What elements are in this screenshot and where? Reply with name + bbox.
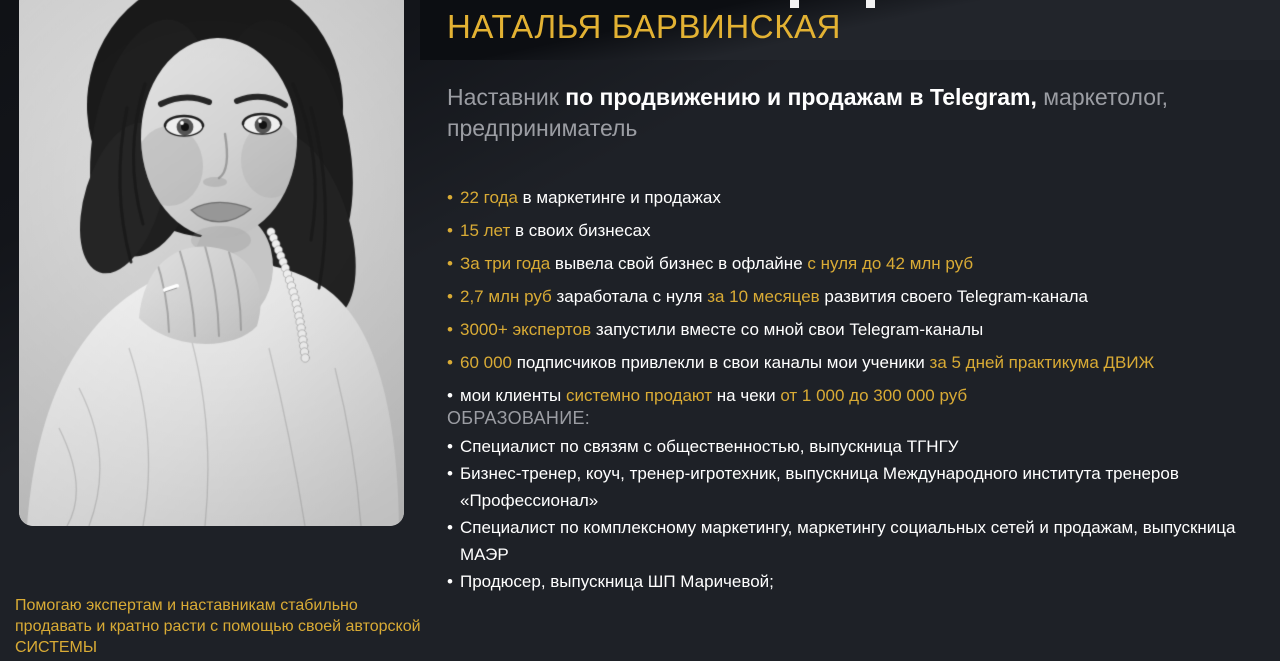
achievement-item: •22 года в маркетинге и продажах <box>447 185 1267 210</box>
bullet-dot-icon: • <box>447 514 453 541</box>
subtitle-segment-0: Наставник <box>447 84 565 110</box>
portrait-photo <box>19 0 404 526</box>
bullet-dot-icon: • <box>447 350 453 375</box>
achievement-segment-0: 15 лет <box>460 221 510 240</box>
bullet-dot-icon: • <box>447 185 453 210</box>
bullet-dot-icon: • <box>447 317 453 342</box>
achievement-segment-3: от 1 000 до 300 000 руб <box>780 386 967 405</box>
bullet-dot-icon: • <box>447 460 453 487</box>
achievement-segment-2: за 5 дней практикума ДВИЖ <box>930 353 1155 372</box>
achievement-item: •мои клиенты системно продают на чеки от… <box>447 383 1267 408</box>
achievement-segment-2: с нуля до 42 млн руб <box>807 254 973 273</box>
achievement-segment-0: 60 000 <box>460 353 512 372</box>
education-item-text: Специалист по комплексному маркетингу, м… <box>460 518 1235 564</box>
subtitle-segment-2: , <box>1030 84 1043 110</box>
bullet-dot-icon: • <box>447 251 453 276</box>
achievement-segment-2: за 10 месяцев <box>707 287 819 306</box>
achievement-segment-1: в маркетинге и продажах <box>518 188 721 207</box>
achievement-segment-1: заработала с нуля <box>552 287 707 306</box>
page-title: НАТАЛЬЯ БАРВИНСКАЯ <box>447 7 841 47</box>
achievement-item: •2,7 млн руб заработала с нуля за 10 мес… <box>447 284 1267 309</box>
achievement-segment-1: вывела свой бизнес в офлайне <box>550 254 807 273</box>
bullet-dot-icon: • <box>447 218 453 243</box>
bullet-dot-icon: • <box>447 568 453 595</box>
bullet-dot-icon: • <box>447 383 453 408</box>
achievement-segment-1: запустили вместе со мной свои Telegram-к… <box>591 320 983 339</box>
achievement-segment-1: в своих бизнесах <box>510 221 650 240</box>
achievement-segment-1: подписчиков привлекли в свои каналы мои … <box>512 353 930 372</box>
education-item: •Продюсер, выпускница ШП Маричевой; <box>447 568 1247 595</box>
education-item: •Специалист по связям с общественностью,… <box>447 433 1247 460</box>
achievement-segment-1: системно продают <box>566 386 712 405</box>
achievements-list: •22 года в маркетинге и продажах•15 лет … <box>447 185 1267 416</box>
achievement-segment-3: развития своего Telegram-канала <box>820 287 1088 306</box>
education-heading: ОБРАЗОВАНИЕ: <box>447 406 590 430</box>
education-item-text: Специалист по связям с общественностью, … <box>460 437 959 456</box>
achievement-item: •60 000 подписчиков привлекли в свои кан… <box>447 350 1267 375</box>
subtitle-segment-1: по продвижению и продажам в Telegram <box>565 84 1030 110</box>
achievement-segment-0: 3000+ экспертов <box>460 320 591 339</box>
education-item: •Бизнес-тренер, коуч, тренер-игротехник,… <box>447 460 1247 514</box>
education-item-text: Продюсер, выпускница ШП Маричевой; <box>460 572 774 591</box>
education-item-text: Бизнес-тренер, коуч, тренер-игротехник, … <box>460 464 1179 510</box>
presentation-slide: НАТАЛЬЯ БАРВИНСКАЯ Наставник по продвиже… <box>0 0 1280 661</box>
achievement-segment-0: За три года <box>460 254 550 273</box>
portrait-canvas <box>19 0 404 526</box>
subtitle: Наставник по продвижению и продажам в Te… <box>447 82 1259 144</box>
bullet-dot-icon: • <box>447 284 453 309</box>
achievement-segment-0: 22 года <box>460 188 518 207</box>
achievement-segment-0: 2,7 млн руб <box>460 287 552 306</box>
achievement-item: •15 лет в своих бизнесах <box>447 218 1267 243</box>
bullet-dot-icon: • <box>447 433 453 460</box>
tagline: Помогаю экспертам и наставникам стабильн… <box>15 595 430 658</box>
education-item: •Специалист по комплексному маркетингу, … <box>447 514 1247 568</box>
achievement-segment-0: мои клиенты <box>460 386 566 405</box>
education-list: •Специалист по связям с общественностью,… <box>447 433 1247 595</box>
achievement-item: •3000+ экспертов запустили вместе со мно… <box>447 317 1267 342</box>
achievement-segment-2: на чеки <box>712 386 780 405</box>
achievement-item: •За три года вывела свой бизнес в офлайн… <box>447 251 1267 276</box>
content-column: НАТАЛЬЯ БАРВИНСКАЯ Наставник по продвиже… <box>447 0 1267 661</box>
